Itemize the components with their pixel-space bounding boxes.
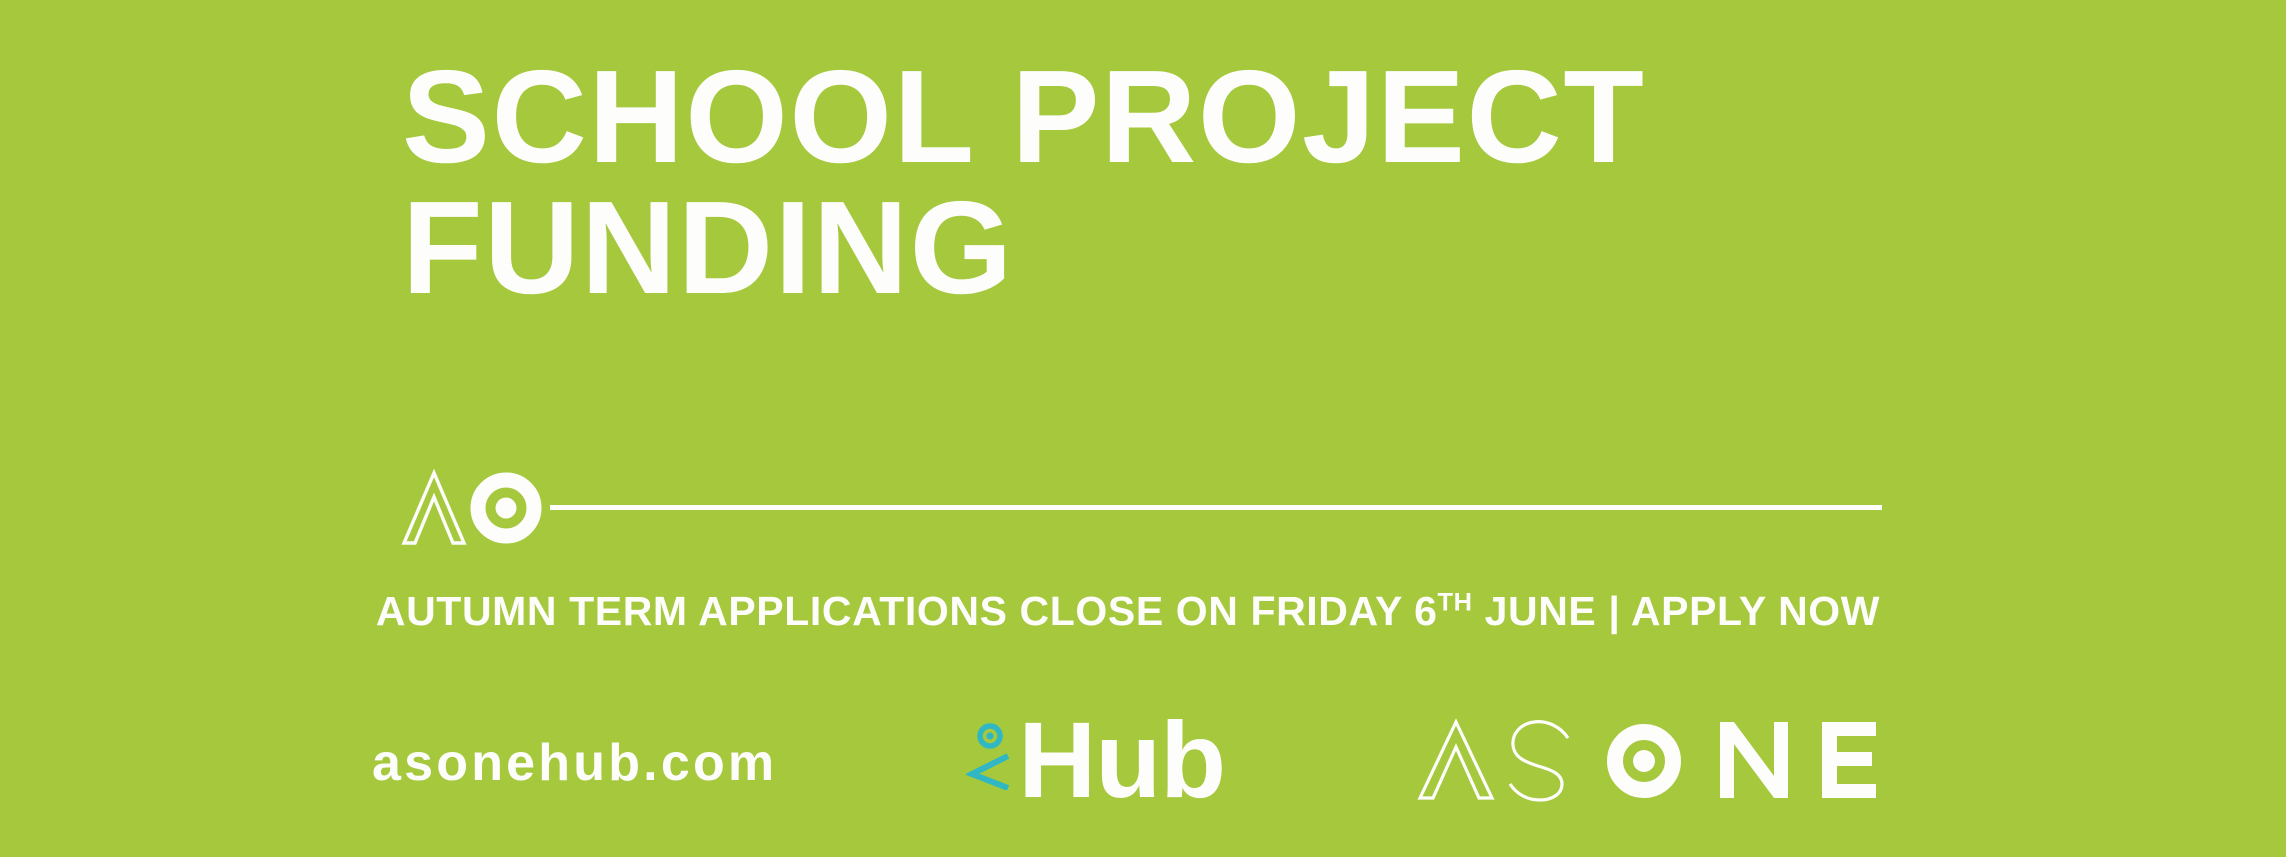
- tagline-prefix: AUTUMN TERM APPLICATIONS CLOSE ON FRIDAY…: [376, 588, 1438, 634]
- website-url-link[interactable]: asonehub.com: [372, 727, 777, 793]
- page-title: SCHOOL PROJECT FUNDING: [402, 52, 1882, 313]
- deadline-tagline: AUTUMN TERM APPLICATIONS CLOSE ON FRIDAY…: [372, 588, 1884, 635]
- brand-divider-row: [396, 462, 1882, 552]
- hub-logo[interactable]: Hub: [964, 714, 1225, 807]
- tagline-ordinal-suffix: TH: [1438, 588, 1473, 616]
- divider-rule: [550, 505, 1882, 510]
- promo-banner: SCHOOL PROJECT FUNDING AUTUMN TERM APPLI…: [0, 0, 2286, 857]
- footer-row: asonehub.com Hub: [372, 700, 1884, 820]
- asone-logo[interactable]: [1412, 714, 1882, 806]
- tagline-suffix: JUNE | APPLY NOW: [1473, 588, 1880, 634]
- ao-badge-teal-icon: [966, 720, 1012, 790]
- hub-wordmark: Hub: [1018, 714, 1225, 807]
- asone-ao-mark-icon: [396, 463, 544, 551]
